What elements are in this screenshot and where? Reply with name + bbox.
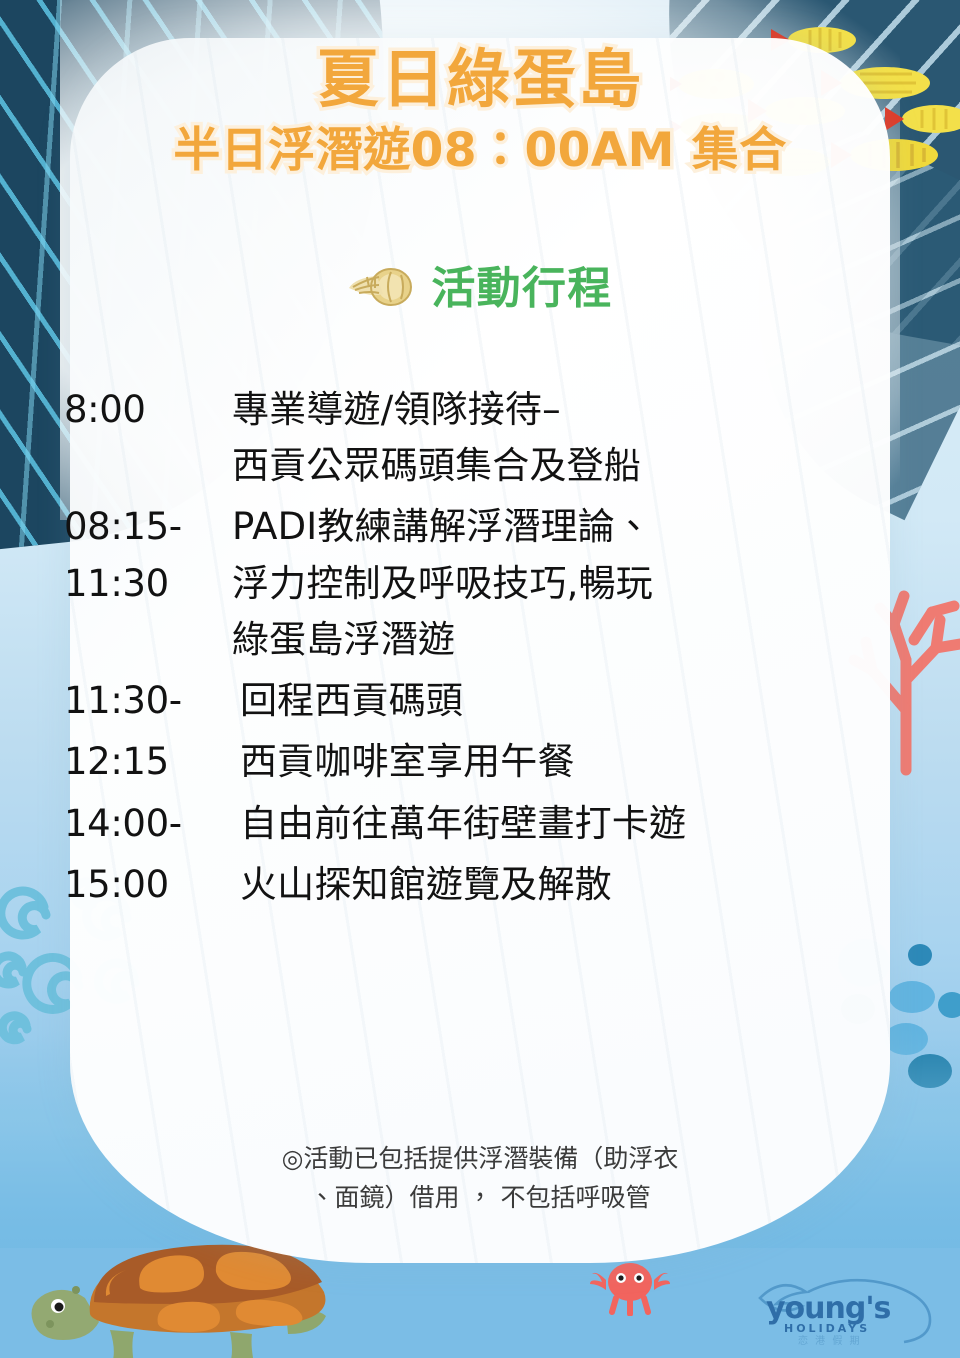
itinerary-row: 08:15- 11:30 PADI教練講解浮潛理論、 浮力控制及呼吸技巧,暢玩 …: [64, 499, 920, 668]
itinerary-time: 11:30-: [64, 673, 232, 729]
itinerary-row: 11:30- 回程西貢碼頭: [64, 673, 920, 729]
section-title: 活動行程: [431, 252, 612, 316]
itinerary-time: 08:15- 11:30: [64, 499, 232, 611]
itinerary-time: 8:00: [64, 382, 232, 438]
itinerary-description: 專業導遊/領隊接待– 西貢公眾碼頭集合及登船: [232, 382, 920, 494]
logo-tagline: HOLIDAYS: [784, 1322, 870, 1335]
conch-shell-icon: [347, 260, 417, 308]
logo-wordmark: young's: [766, 1291, 891, 1326]
itinerary-time: 14:00-: [64, 796, 232, 852]
itinerary-list: 8:00 專業導遊/領隊接待– 西貢公眾碼頭集合及登船 08:15- 11:30…: [64, 382, 920, 918]
logo-tagline-cn: 恋 港 假 期: [798, 1334, 862, 1346]
title-block: 夏日綠蛋島 半日浮潛遊08：00AM 集合: [0, 46, 960, 177]
itinerary-row: 12:15 西貢咖啡室享用午餐: [64, 734, 920, 790]
itinerary-description: 自由前往萬年街壁畫打卡遊: [232, 796, 920, 852]
card-content: 夏日綠蛋島 半日浮潛遊08：00AM 集合 活動行程: [0, 0, 960, 1358]
itinerary-description: PADI教練講解浮潛理論、 浮力控制及呼吸技巧,暢玩 綠蛋島浮潛遊: [232, 499, 920, 668]
itinerary-time: 15:00: [64, 857, 232, 913]
poster-root: 夏日綠蛋島 半日浮潛遊08：00AM 集合 活動行程: [0, 0, 960, 1358]
itinerary-row: 15:00 火山探知館遊覽及解散: [64, 857, 920, 913]
itinerary-description: 回程西貢碼頭: [232, 673, 920, 729]
itinerary-row: 14:00- 自由前往萬年街壁畫打卡遊: [64, 796, 920, 852]
itinerary-time: 12:15: [64, 734, 232, 790]
section-header: 活動行程: [0, 252, 960, 316]
footnote: ◎活動已包括提供浮潛裝備（助浮衣 、面鏡）借用 ， 不包括呼吸管: [80, 1140, 880, 1218]
itinerary-description: 西貢咖啡室享用午餐: [232, 734, 920, 790]
itinerary-row: 8:00 專業導遊/領隊接待– 西貢公眾碼頭集合及登船: [64, 382, 920, 494]
page-subtitle: 半日浮潛遊08：00AM 集合: [0, 126, 960, 177]
itinerary-description: 火山探知館遊覽及解散: [232, 857, 920, 913]
page-title: 夏日綠蛋島: [0, 46, 960, 114]
brand-logo: young's HOLIDAYS 恋 港 假 期: [746, 1268, 942, 1346]
